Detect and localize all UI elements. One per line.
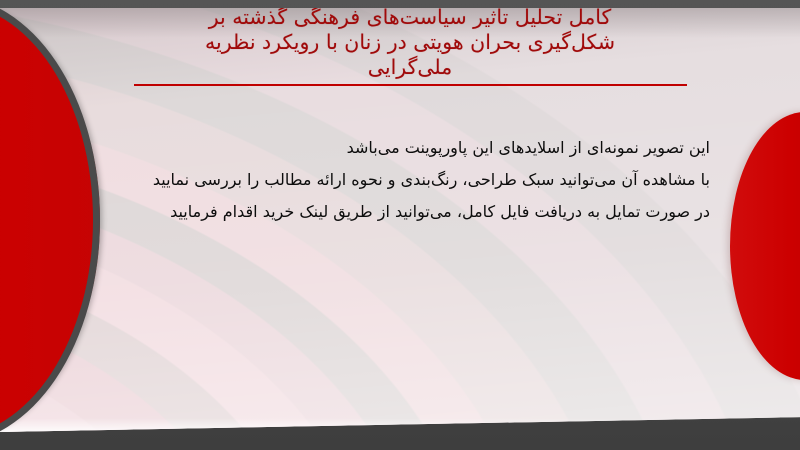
slide-body: این تصویر نمونه‌ای از اسلایدهای این پاور…: [120, 132, 710, 228]
title-underline: [134, 84, 687, 86]
body-line: در صورت تمایل به دریافت فایل کامل، می‌تو…: [120, 196, 710, 228]
slide-title: کامل تحلیل تأثیر سیاست‌های فرهنگی گذشته …: [120, 8, 700, 80]
slide-content-plate: کامل تحلیل تأثیر سیاست‌های فرهنگی گذشته …: [0, 8, 800, 432]
presentation-slide: کامل تحلیل تأثیر سیاست‌های فرهنگی گذشته …: [0, 0, 800, 450]
body-line: با مشاهده آن می‌توانید سبک طراحی، رنگ‌بن…: [120, 164, 710, 196]
body-line: این تصویر نمونه‌ای از اسلایدهای این پاور…: [120, 132, 710, 164]
